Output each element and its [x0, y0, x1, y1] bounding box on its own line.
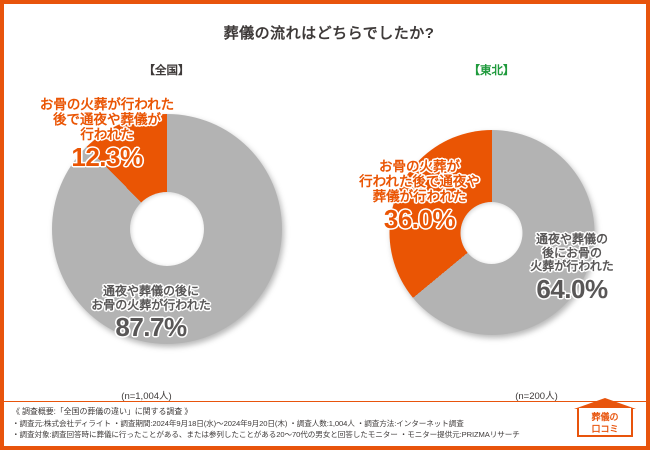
segment-text-gray-tohoku: 通夜や葬儀の 後にお骨の 火葬が行われた	[530, 232, 613, 273]
segment-label-orange-tohoku: お骨の火葬が 行われた後で通夜や 葬儀が行われた 36.0%	[337, 144, 502, 250]
footer-line-2: ・調査元:株式会社ディライト ・調査期間:2024年9月18日(水)〜2024年…	[12, 418, 638, 429]
site-logo[interactable]: 葬儀の 口コミ	[574, 398, 636, 438]
segment-value-orange-tohoku: 36.0%	[337, 205, 502, 234]
sample-size-zenkoku: (n=1,004人)	[4, 388, 329, 402]
footer-heading: 《 調査概要:「全国の葬儀の違い」に関する調査 》	[12, 406, 638, 418]
region-label-tohoku: 【東北】	[329, 62, 650, 78]
chart-panel-tohoku: 【東北】 お骨の火葬が 行われた後で通夜や 葬儀が行われた 36.0% 通夜や葬…	[329, 62, 650, 402]
logo-line-2: 口コミ	[574, 422, 636, 435]
chart-panel-zenkoku: 【全国】 お骨の火葬が行われた 後で通夜や葬儀が 行われた 12.3% 通夜や葬…	[4, 62, 329, 402]
page-title: 葬儀の流れはどちらでしたか?	[4, 22, 650, 43]
segment-text-gray-zenkoku: 通夜や葬儀の後に お骨の火葬が行われた	[91, 284, 210, 311]
segment-text-orange-tohoku: お骨の火葬が 行われた後で通夜や 葬儀が行われた	[359, 159, 480, 204]
donut-hole-zenkoku	[130, 192, 204, 266]
infographic-page: 葬儀の流れはどちらでしたか? 【全国】 お骨の火葬が行われた 後で通夜や葬儀が …	[0, 0, 650, 450]
segment-label-gray-tohoku: 通夜や葬儀の 後にお骨の 火葬が行われた 64.0%	[497, 220, 647, 317]
segment-value-orange-zenkoku: 12.3%	[12, 143, 202, 172]
segment-label-gray-zenkoku: 通夜や葬儀の後に お骨の火葬が行われた 87.7%	[56, 272, 246, 356]
segment-text-orange-zenkoku: お骨の火葬が行われた 後で通夜や葬儀が 行われた	[40, 97, 174, 142]
segment-value-gray-tohoku: 64.0%	[497, 275, 647, 304]
segment-value-gray-zenkoku: 87.7%	[56, 313, 246, 342]
segment-label-orange-zenkoku: お骨の火葬が行われた 後で通夜や葬儀が 行われた 12.3%	[12, 82, 202, 188]
survey-overview-footer: 《 調査概要:「全国の葬儀の違い」に関する調査 》 ・調査元:株式会社ディライト…	[4, 401, 646, 446]
region-label-zenkoku: 【全国】	[4, 62, 329, 78]
footer-line-3: ・調査対象:調査回答時に葬儀に行ったことがある、または参列したことがある20〜7…	[12, 429, 638, 440]
